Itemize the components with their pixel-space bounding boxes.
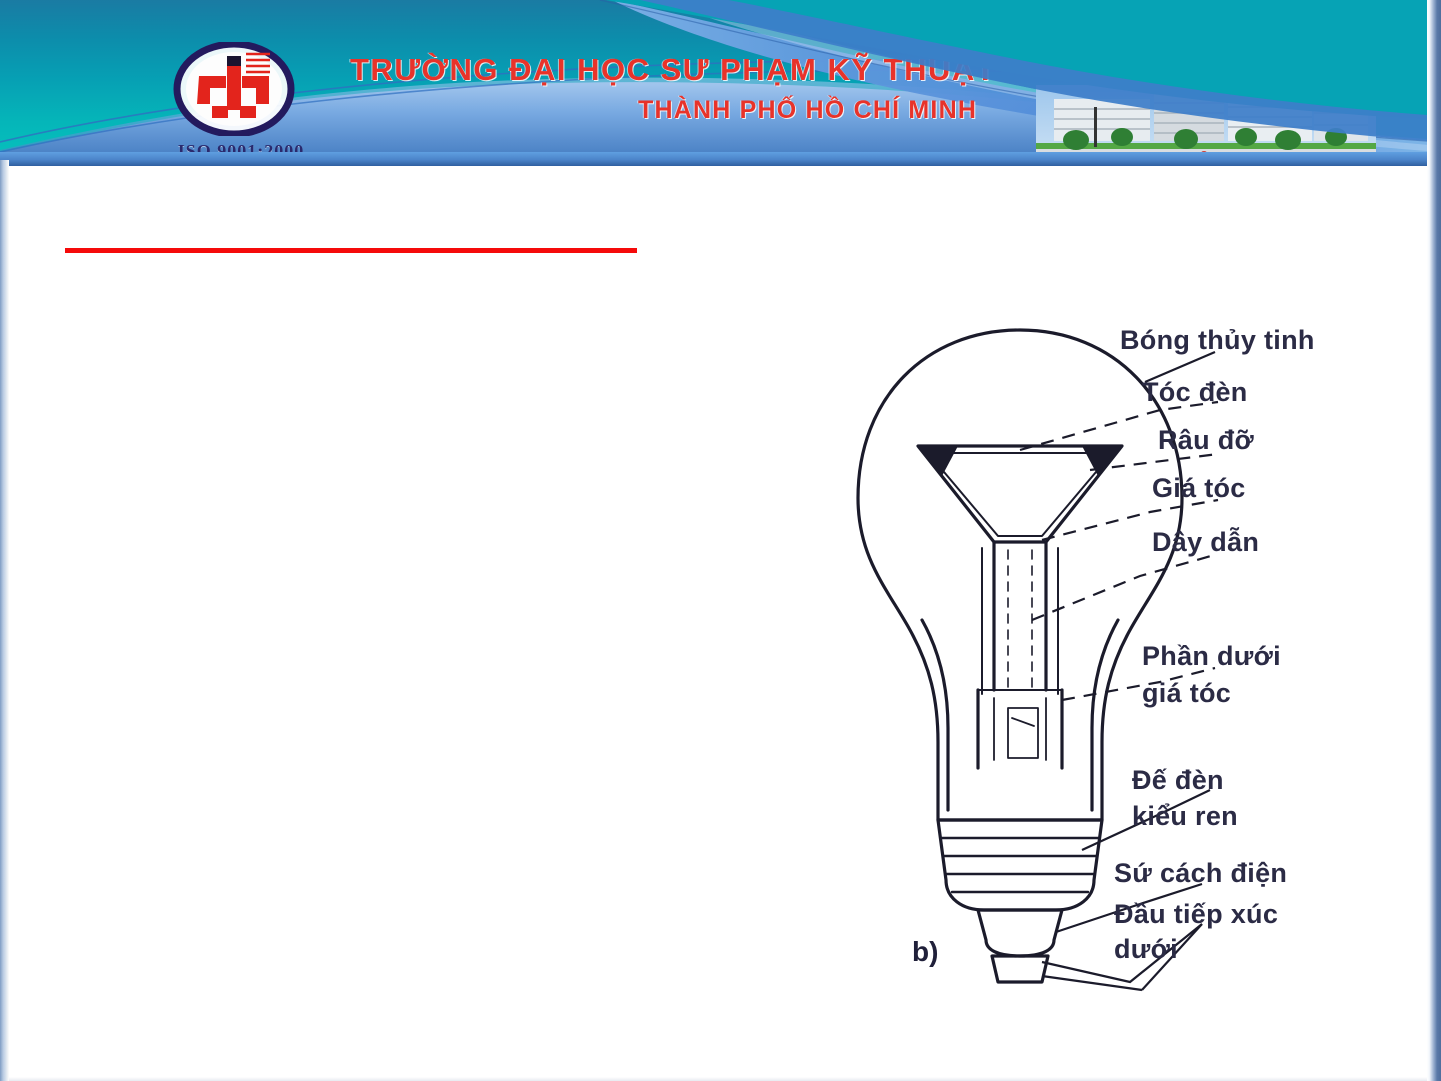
header-teal-wave-overlay: [0, 0, 1441, 166]
slide-header-banner: ISO 9001:2000 TRƯỜNG ĐẠI HỌC SƯ PHẠM KỸ …: [0, 0, 1441, 166]
slide-border-bottom: [0, 1077, 1441, 1081]
slide-border-left: [0, 160, 9, 1081]
label-day-dan: Dây dẫn: [1152, 524, 1259, 560]
label-phan-duoi-line1: Phần dưới: [1142, 638, 1281, 674]
light-bulb-figure: Bóng thủy tinh Tóc đèn Râu đỡ Giá tóc Dâ…: [690, 290, 1405, 1005]
label-toc-den: Tóc đèn: [1142, 374, 1248, 410]
label-dau-tiep-xuc-line1: Đầu tiếp xúc: [1114, 896, 1278, 932]
label-rau-do: Râu đỡ: [1158, 422, 1254, 458]
title-underline-rule: [65, 248, 637, 253]
slide-border-right: [1427, 0, 1441, 1081]
label-dau-tiep-xuc-line2: dưới: [1114, 931, 1178, 967]
figure-caption-b: b): [912, 936, 938, 968]
header-bottom-blue-bar: [0, 152, 1441, 166]
light-bulb-line-drawing: [690, 290, 1405, 1005]
label-bong-thuy-tinh: Bóng thủy tinh: [1120, 322, 1315, 358]
slide-canvas: ISO 9001:2000 TRƯỜNG ĐẠI HỌC SƯ PHẠM KỸ …: [0, 0, 1441, 1081]
label-su-cach-dien: Sứ cách điện: [1114, 855, 1287, 891]
label-phan-duoi-line2: giá tóc: [1142, 675, 1231, 711]
label-gia-toc: Giá tóc: [1152, 470, 1246, 506]
label-de-den-line1: Đế đèn: [1132, 762, 1224, 798]
label-de-den-line2: kiểu ren: [1132, 798, 1238, 834]
